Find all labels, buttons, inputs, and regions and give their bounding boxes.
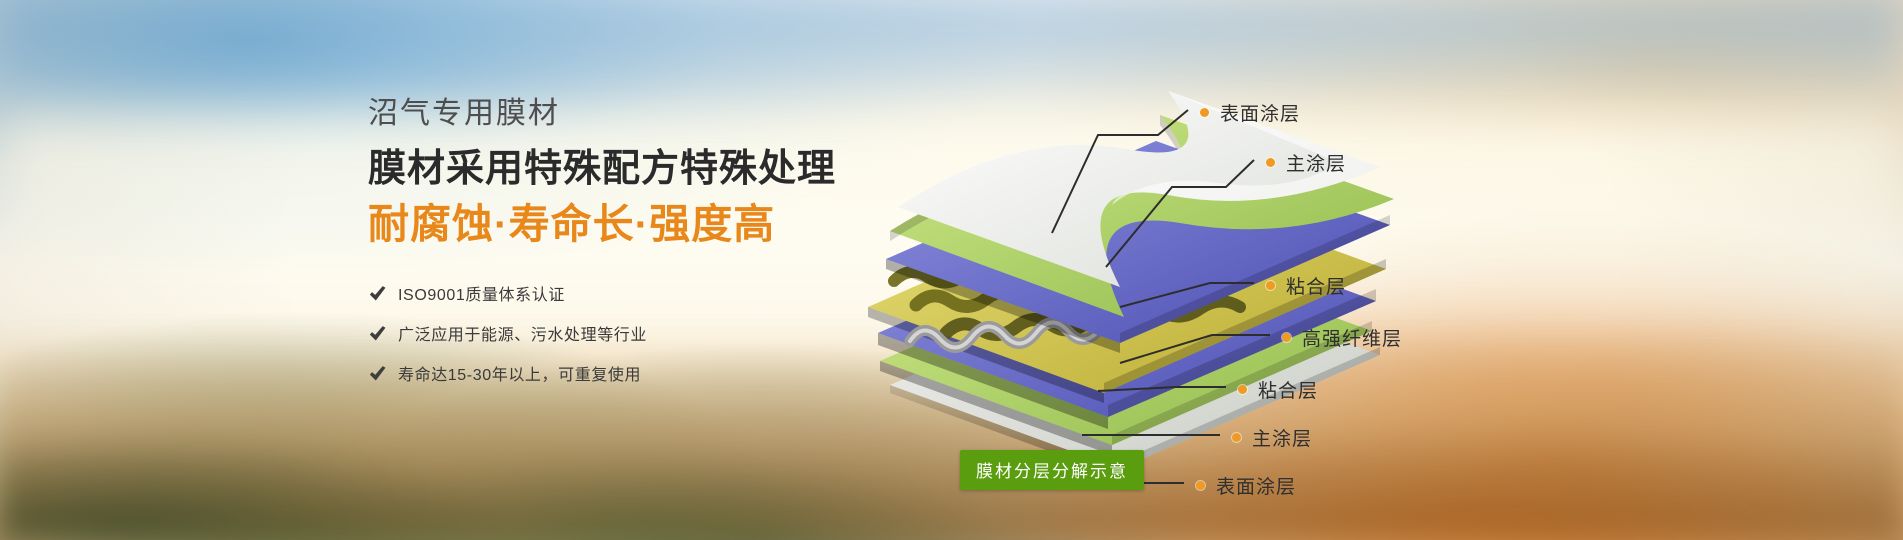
callout-surface-coating-top: 表面涂层 xyxy=(1200,99,1300,126)
hero-copy: 沼气专用膜材 膜材采用特殊配方特殊处理 耐腐蚀·寿命长·强度高 ISO9001质… xyxy=(368,95,888,401)
membrane-layer-diagram: 表面涂层 主涂层 粘合层 高强纤维层 粘合层 主涂层 表面涂层 膜材分层分解示意 xyxy=(820,55,1903,540)
check-icon xyxy=(368,364,387,383)
list-item-label: 广泛应用于能源、污水处理等行业 xyxy=(398,321,647,345)
callout-main-coating-top: 主涂层 xyxy=(1266,149,1346,176)
hero-headline-primary: 膜材采用特殊配方特殊处理 xyxy=(368,147,888,193)
callout-label: 表面涂层 xyxy=(1220,99,1300,126)
callout-main-coating-bottom: 主涂层 xyxy=(1232,424,1312,451)
bullet-dot-icon xyxy=(1232,433,1241,442)
bullet-dot-icon xyxy=(1266,158,1275,167)
bullet-dot-icon xyxy=(1196,481,1205,490)
hero-headline-accent: 耐腐蚀·寿命长·强度高 xyxy=(368,200,888,249)
feature-list: ISO9001质量体系认证 广泛应用于能源、污水处理等行业 寿命达15-30年以… xyxy=(368,281,888,385)
bullet-dot-icon xyxy=(1238,385,1247,394)
callout-surface-coating-bottom: 表面涂层 xyxy=(1196,472,1296,499)
hero-banner: 沼气专用膜材 膜材采用特殊配方特殊处理 耐腐蚀·寿命长·强度高 ISO9001质… xyxy=(0,0,1903,540)
list-item: 寿命达15-30年以上，可重复使用 xyxy=(368,361,888,385)
callout-label: 主涂层 xyxy=(1252,424,1312,451)
list-item-label: 寿命达15-30年以上，可重复使用 xyxy=(398,361,641,385)
callout-fibre-layer: 高强纤维层 xyxy=(1282,324,1402,351)
callout-label: 粘合层 xyxy=(1258,376,1318,403)
callout-label: 表面涂层 xyxy=(1216,472,1296,499)
diagram-caption-badge: 膜材分层分解示意 xyxy=(960,450,1144,490)
list-item-label: ISO9001质量体系认证 xyxy=(398,281,565,305)
callout-adhesive-top: 粘合层 xyxy=(1266,272,1346,299)
hero-eyebrow: 沼气专用膜材 xyxy=(368,95,888,133)
check-icon xyxy=(368,284,387,303)
callout-adhesive-bottom: 粘合层 xyxy=(1238,376,1318,403)
check-icon xyxy=(368,324,387,343)
bullet-dot-icon xyxy=(1266,281,1275,290)
callout-label: 高强纤维层 xyxy=(1302,324,1402,351)
list-item: ISO9001质量体系认证 xyxy=(368,281,888,305)
callout-label: 主涂层 xyxy=(1286,149,1346,176)
bullet-dot-icon xyxy=(1200,108,1209,117)
callout-label: 粘合层 xyxy=(1286,272,1346,299)
bullet-dot-icon xyxy=(1282,333,1291,342)
list-item: 广泛应用于能源、污水处理等行业 xyxy=(368,321,888,345)
